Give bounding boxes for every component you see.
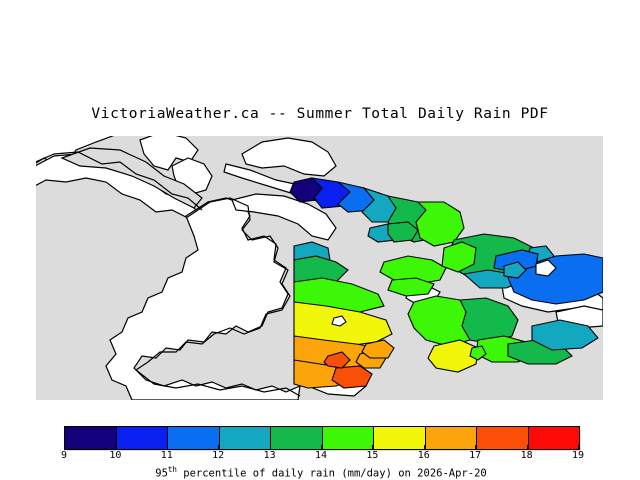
colorbar: 910111213141516171819 95th percentile of…: [56, 418, 586, 478]
landmass-north-peninsula: [242, 138, 336, 176]
tick-mark: [218, 445, 219, 449]
tick-mark: [167, 445, 168, 449]
colorbar-tick-13: 13: [264, 450, 276, 461]
colorbar-ticks: 910111213141516171819: [64, 450, 580, 466]
colorbar-tick-17: 17: [469, 450, 481, 461]
data-regions-group: [290, 178, 603, 388]
caption-rest: percentile of daily rain (mm/day) on 202…: [177, 468, 487, 480]
tick-mark: [527, 445, 528, 449]
tick-mark: [578, 445, 579, 449]
map-plot-area: [36, 136, 603, 400]
page-title: VictoriaWeather.ca -- Summer Total Daily…: [0, 106, 640, 122]
colorbar-band-18-19[interactable]: [529, 427, 580, 449]
colorbar-band-13-14[interactable]: [271, 427, 323, 449]
colorbar-band-17-18[interactable]: [477, 427, 529, 449]
tick-mark: [64, 445, 65, 449]
colorbar-tick-15: 15: [366, 450, 378, 461]
colorbar-band-16-17[interactable]: [426, 427, 478, 449]
colorbar-tick-19: 19: [572, 450, 584, 461]
colorbar-tick-9: 9: [61, 450, 67, 461]
landmass-vancouver-island: [106, 198, 300, 400]
colorbar-bands[interactable]: [64, 426, 580, 450]
tick-mark: [475, 445, 476, 449]
colorbar-tick-11: 11: [161, 450, 173, 461]
tick-mark: [424, 445, 425, 449]
tick-mark: [270, 445, 271, 449]
tick-mark: [321, 445, 322, 449]
colorbar-band-12-13[interactable]: [220, 427, 272, 449]
colorbar-band-11-12[interactable]: [168, 427, 220, 449]
tick-mark: [115, 445, 116, 449]
tick-mark: [372, 445, 373, 449]
colorbar-band-10-11[interactable]: [117, 427, 169, 449]
colorbar-band-14-15[interactable]: [323, 427, 375, 449]
colorbar-band-15-16[interactable]: [374, 427, 426, 449]
colorbar-tick-18: 18: [521, 450, 533, 461]
colorbar-band-9-10[interactable]: [65, 427, 117, 449]
colorbar-tick-12: 12: [212, 450, 224, 461]
caption-prefix: 95: [155, 468, 168, 480]
caption-ordinal-suffix: th: [168, 465, 177, 474]
colorbar-caption: 95th percentile of daily rain (mm/day) o…: [56, 465, 586, 480]
colorbar-tick-16: 16: [418, 450, 430, 461]
colorbar-tick-10: 10: [109, 450, 121, 461]
map-canvas: [36, 136, 603, 400]
colorbar-tick-14: 14: [315, 450, 327, 461]
